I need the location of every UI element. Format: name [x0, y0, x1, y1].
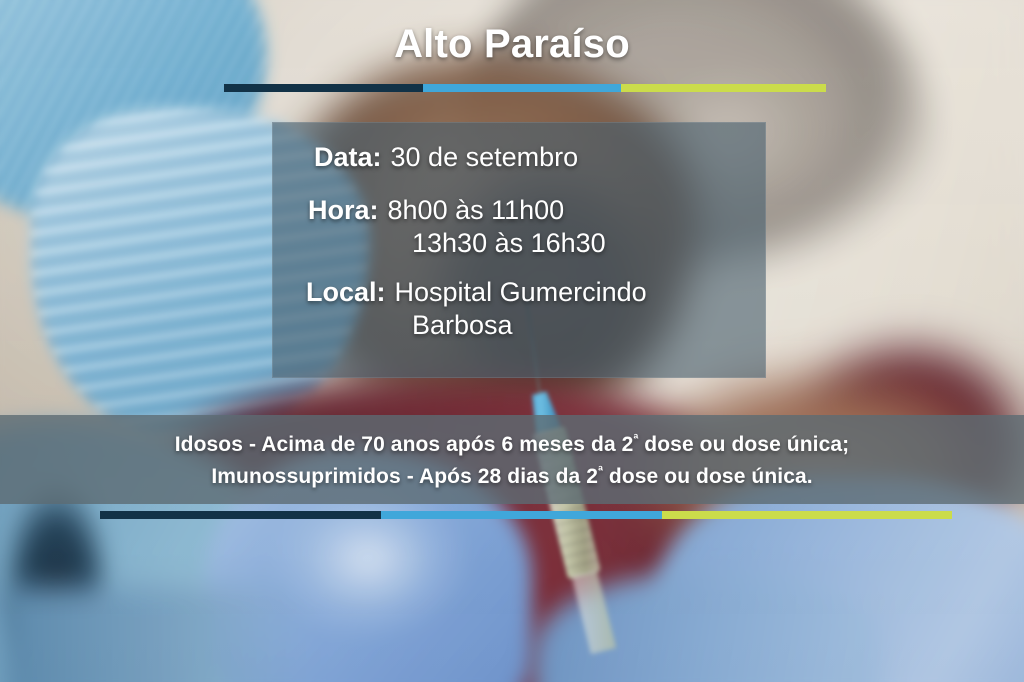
event-info-rows: Data: 30 de setembro Hora: 8h00 às 11h00…	[272, 122, 766, 378]
time-value-line1: 8h00 às 11h00	[388, 195, 565, 226]
poster-title: Alto Paraíso	[0, 22, 1024, 67]
divider-top-segment-blue	[423, 84, 622, 92]
time-value-line2: 13h30 às 16h30	[412, 228, 606, 259]
place-value-line2: Barbosa	[412, 310, 513, 341]
eligibility-line-elderly: Idosos - Acima de 70 anos após 6 meses d…	[175, 431, 850, 457]
event-info-panel: Data: 30 de setembro Hora: 8h00 às 11h00…	[272, 122, 766, 378]
info-row-time-second: 13h30 às 16h30	[412, 228, 748, 259]
place-label: Local:	[306, 277, 386, 308]
eligibility-line-elderly-prefix: Idosos - Acima de 70 anos após 6 meses d…	[175, 433, 634, 456]
date-value: 30 de setembro	[391, 142, 579, 173]
divider-bottom-segment-navy	[100, 511, 381, 519]
info-row-place: Local: Hospital Gumercindo	[306, 277, 748, 308]
divider-bottom	[100, 511, 952, 519]
divider-top-segment-lime	[621, 84, 826, 92]
divider-top	[224, 84, 826, 92]
info-row-date: Data: 30 de setembro	[314, 142, 748, 173]
divider-top-segment-navy	[224, 84, 423, 92]
time-label: Hora:	[308, 195, 379, 226]
eligibility-line-immunosuppressed-prefix: Imunossuprimidos - Após 28 dias da 2	[211, 465, 598, 488]
info-row-place-second: Barbosa	[412, 310, 748, 341]
eligibility-notice-band: Idosos - Acima de 70 anos após 6 meses d…	[0, 415, 1024, 504]
date-label: Data:	[314, 142, 382, 173]
info-row-time: Hora: 8h00 às 11h00	[308, 195, 748, 226]
divider-bottom-segment-blue	[381, 511, 662, 519]
place-value-line1: Hospital Gumercindo	[395, 277, 647, 308]
eligibility-line-immunosuppressed: Imunossuprimidos - Após 28 dias da 2ª do…	[211, 463, 812, 489]
eligibility-line-immunosuppressed-suffix: dose ou dose única.	[603, 465, 813, 488]
vaccination-announcement-poster: Alto Paraíso Data: 30 de setembro Hora: …	[0, 0, 1024, 682]
divider-bottom-segment-lime	[662, 511, 952, 519]
eligibility-line-elderly-suffix: dose ou dose única;	[638, 433, 849, 456]
